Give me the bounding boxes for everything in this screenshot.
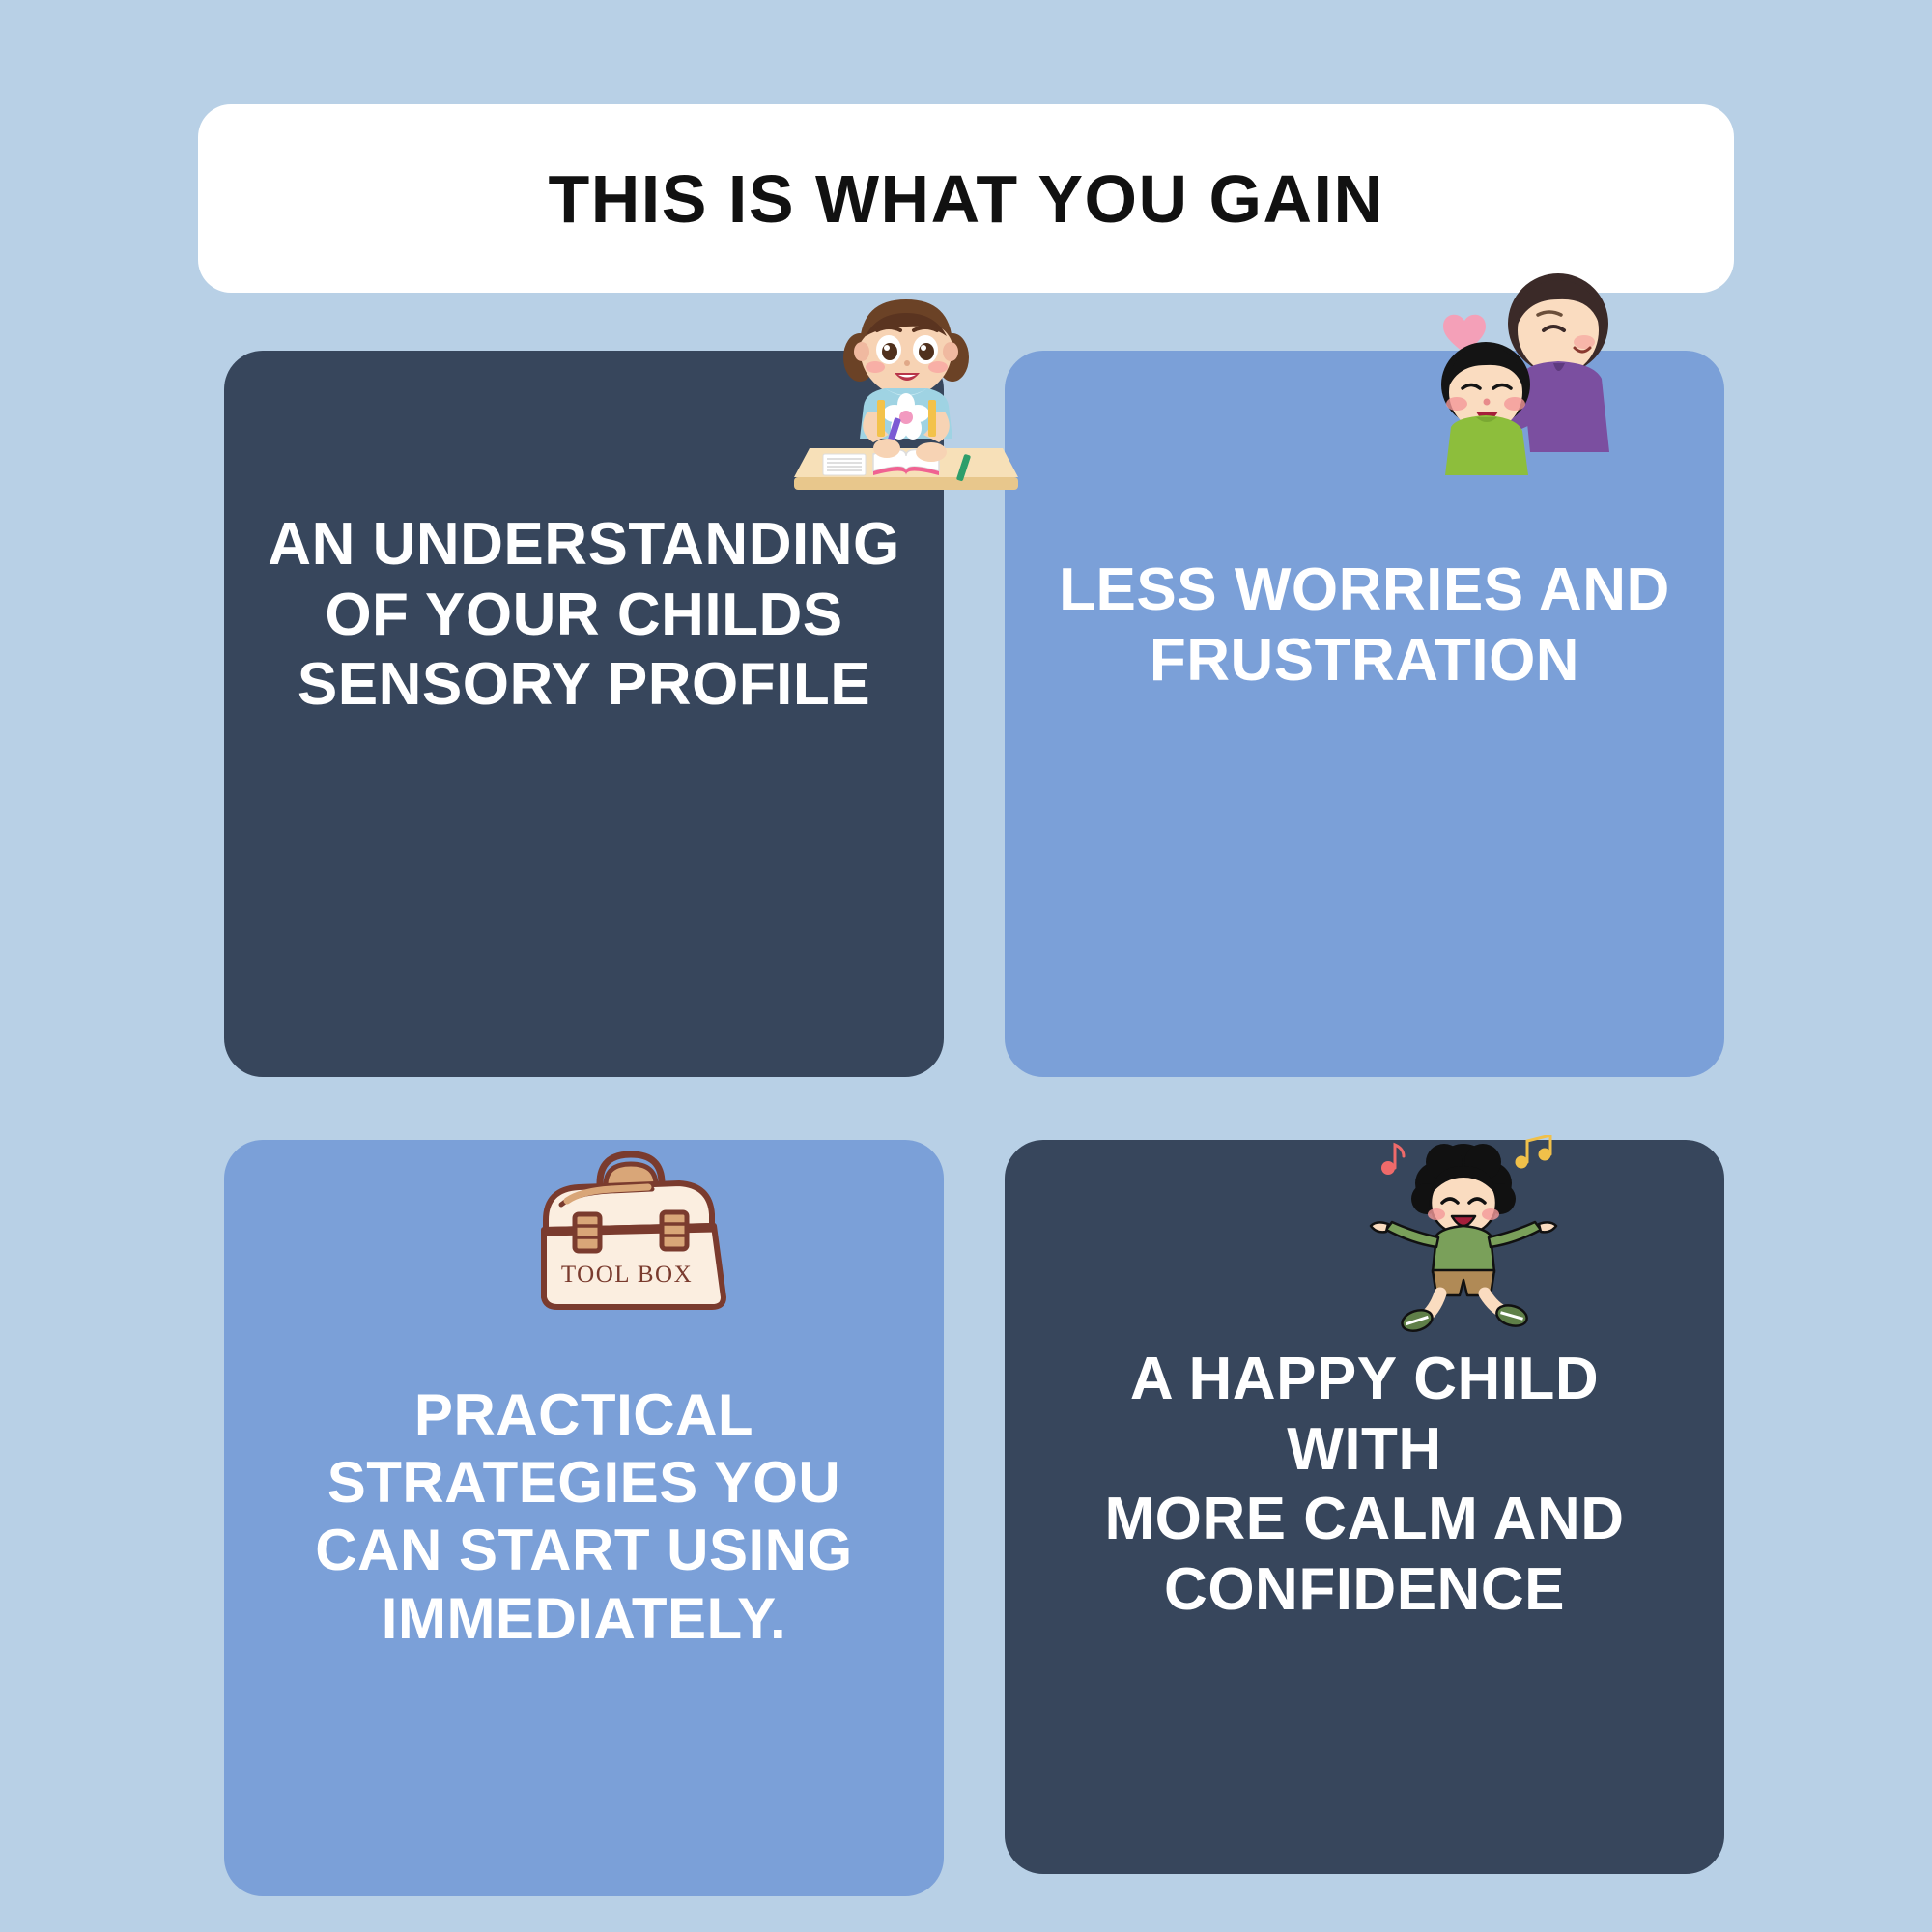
benefit-card-happy-child-label: A HAPPY CHILD WITH MORE CALM AND CONFIDE… (1005, 1345, 1724, 1625)
dancing-happy-child-icon (1367, 1135, 1560, 1333)
page-title: THIS IS WHAT YOU GAIN (548, 160, 1383, 238)
benefit-card-happy-child: A HAPPY CHILD WITH MORE CALM AND CONFIDE… (1005, 1140, 1724, 1874)
benefit-card-less-worries-label: LESS WORRIES AND FRUSTRATION (1005, 555, 1724, 696)
title-banner: THIS IS WHAT YOU GAIN (198, 104, 1734, 293)
toolbox-icon: TOOL BOX (517, 1145, 739, 1314)
benefits-grid: AN UNDERSTANDING OF YOUR CHILDS SENSORY … (224, 351, 1725, 1896)
toolbox-label: TOOL BOX (561, 1262, 693, 1288)
girl-studying-at-desk-icon (781, 288, 1032, 496)
benefit-card-understanding-label: AN UNDERSTANDING OF YOUR CHILDS SENSORY … (224, 510, 944, 721)
mother-hugging-child-icon (1430, 270, 1637, 493)
benefit-card-practical-strategies-label: PRACTICAL STRATEGIES YOU CAN START USING… (224, 1381, 944, 1653)
